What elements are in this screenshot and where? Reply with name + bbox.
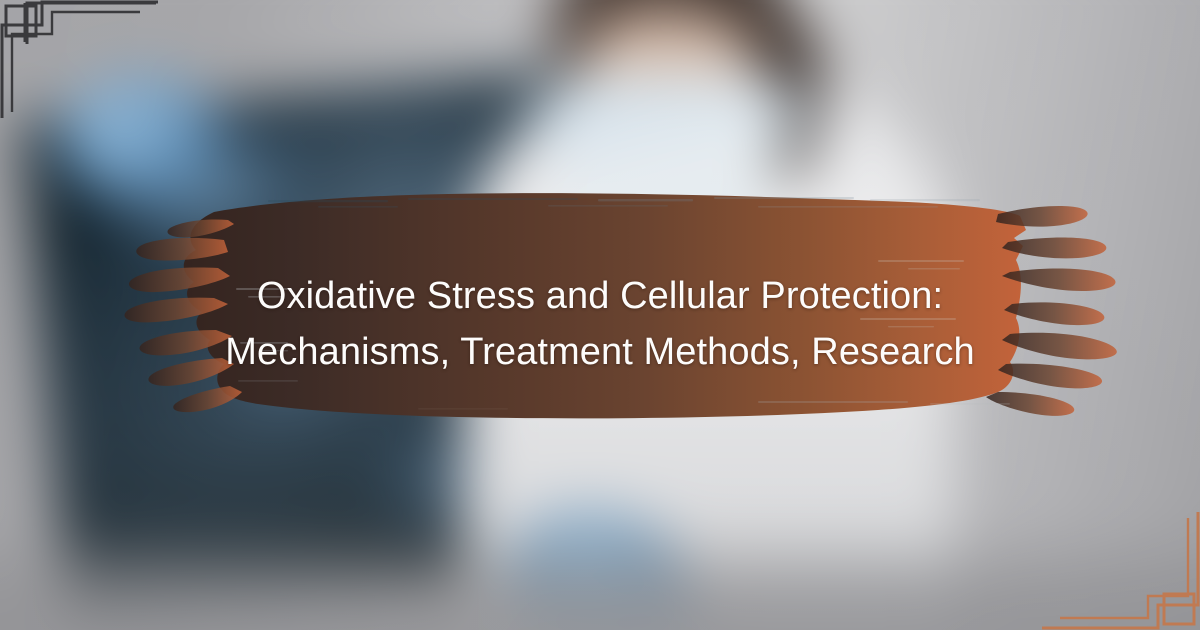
corner-ornament-bottom-right [1040, 480, 1200, 630]
brush-stroke-banner [118, 172, 1048, 440]
brush-body [184, 193, 1026, 418]
banner-card: Oxidative Stress and Cellular Protection… [0, 0, 1200, 630]
corner-ornament-top-left [0, 0, 160, 150]
